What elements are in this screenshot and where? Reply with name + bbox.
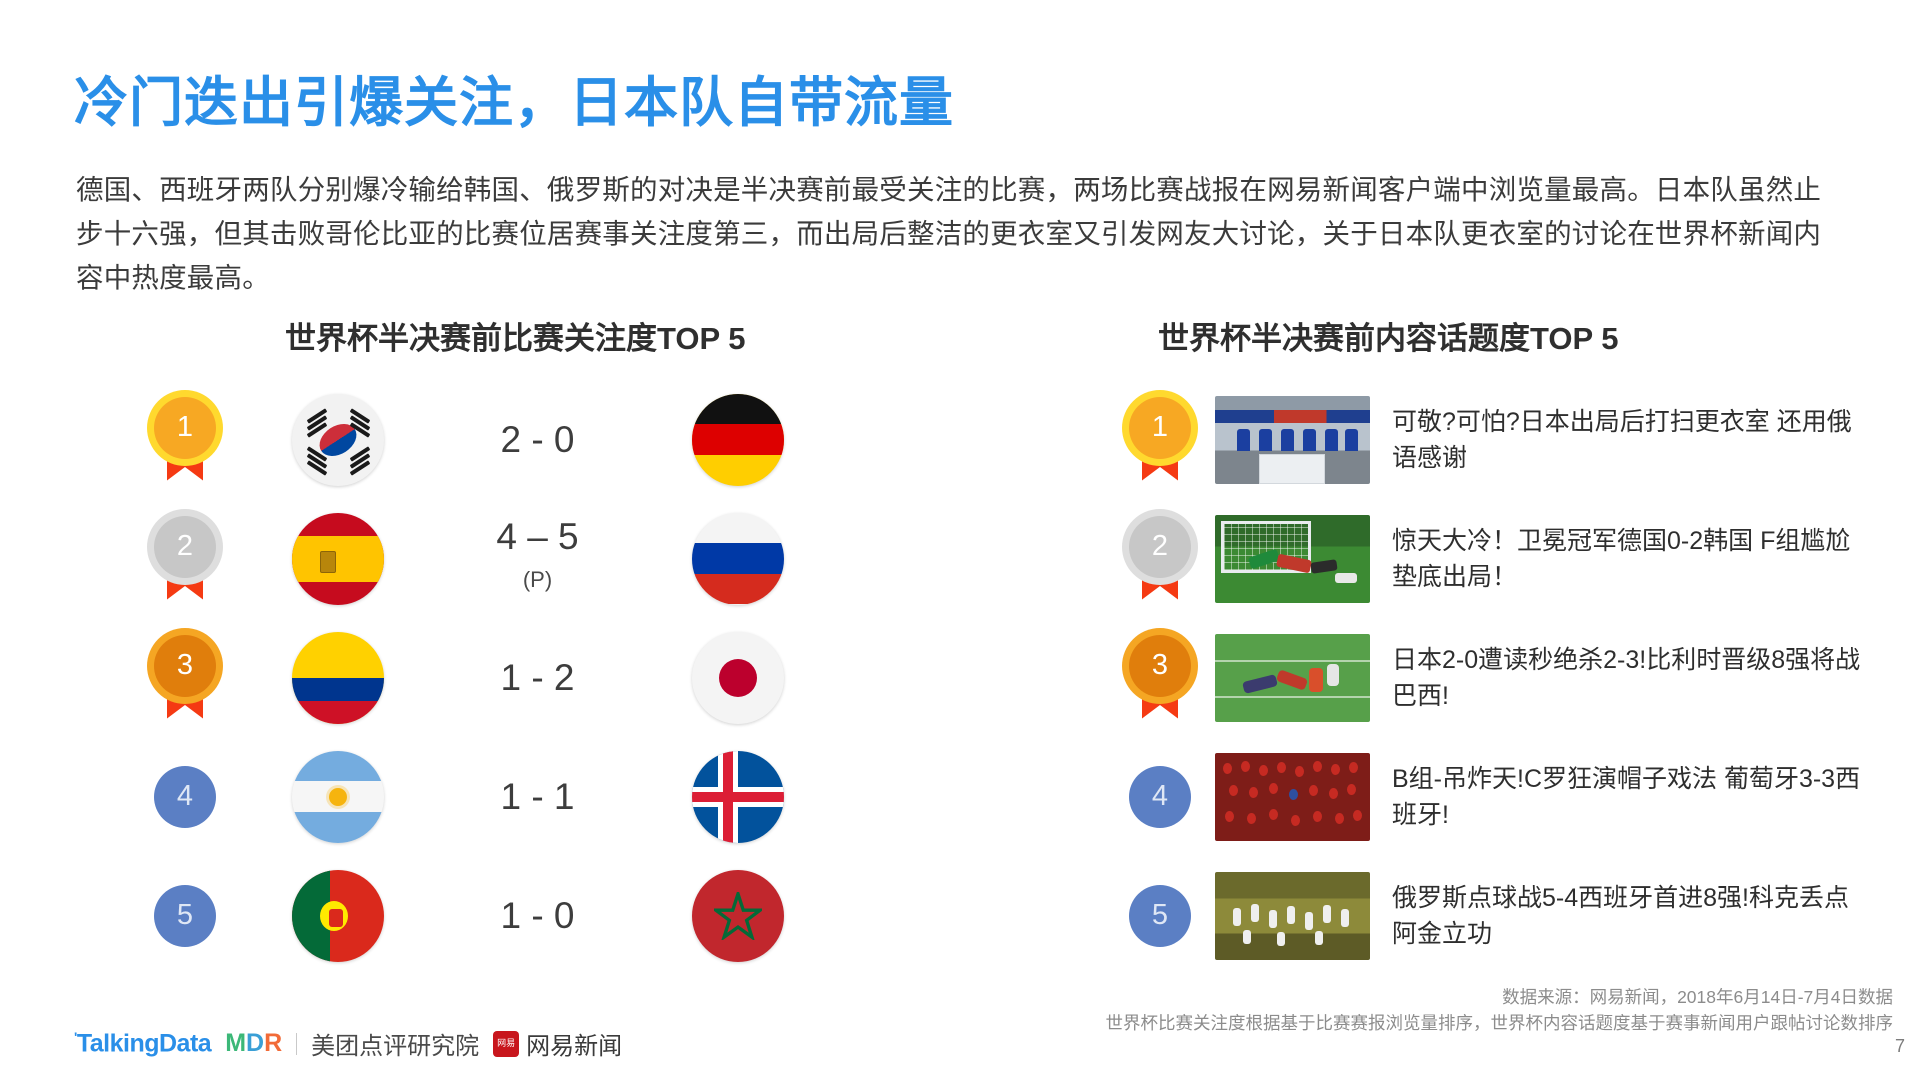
score-text: 1 - 2 bbox=[500, 657, 574, 698]
home-flag-cell bbox=[250, 394, 425, 486]
rank-number: 1 bbox=[154, 397, 216, 459]
source-line-2: 世界杯比赛关注度根据基于比赛赛报浏览量排序，世界杯内容话题度基于赛事新闻用户跟帖… bbox=[1106, 1010, 1894, 1036]
medal-gold-icon: 1 bbox=[154, 397, 216, 483]
news-thumbnail-red-crowd[interactable] bbox=[1215, 753, 1370, 841]
flag-morocco-icon bbox=[692, 870, 784, 962]
medal-bronze-icon: 3 bbox=[1129, 635, 1191, 721]
rank-number: 2 bbox=[1129, 516, 1191, 578]
rank-badge-4: 4 bbox=[1129, 766, 1191, 828]
list-item: 5 俄罗斯点球战5-4西班牙首进8强!科克丢点阿金立功 bbox=[1105, 856, 1905, 975]
slide-root: 冷门迭出引爆关注，日本队自带流量 德国、西班牙两队分别爆冷输给韩国、俄罗斯的对决… bbox=[0, 0, 1921, 1080]
flag-spain-icon bbox=[292, 513, 384, 605]
right-section-heading: 世界杯半决赛前内容话题度TOP 5 bbox=[1158, 313, 1618, 358]
news-headline[interactable]: 俄罗斯点球战5-4西班牙首进8强!科克丢点阿金立功 bbox=[1392, 880, 1872, 952]
match-score: 1 - 1 bbox=[425, 776, 650, 818]
medal-gold-icon: 1 bbox=[1129, 397, 1191, 483]
rank-number: 5 bbox=[177, 899, 193, 932]
rank-cell: 2 bbox=[120, 516, 250, 602]
match-ranking-list: 1 bbox=[120, 380, 900, 975]
table-row: 1 bbox=[120, 380, 900, 499]
flag-iceland-icon bbox=[692, 751, 784, 843]
netease-label: 网易新闻 bbox=[526, 1026, 622, 1061]
medal-silver-icon: 2 bbox=[1129, 516, 1191, 602]
page-title: 冷门迭出引爆关注，日本队自带流量 bbox=[74, 58, 954, 137]
news-ranking-list: 1 可敬?可怕?日本出局后打扫更衣室 还用俄语感谢 2 bbox=[1105, 380, 1905, 975]
rank-number: 1 bbox=[1129, 397, 1191, 459]
penalty-note: (P) bbox=[425, 559, 650, 601]
netease-mark-icon: 网易 bbox=[493, 1031, 519, 1057]
footer-logos: 'TalkingData MDR 美团点评研究院 网易 网易新闻 bbox=[74, 1026, 622, 1061]
score-text: 2 - 0 bbox=[500, 419, 574, 460]
rank-cell: 3 bbox=[1105, 635, 1215, 721]
page-number: 7 bbox=[1895, 1036, 1905, 1057]
away-flag-cell bbox=[650, 394, 825, 486]
rank-number: 5 bbox=[1152, 899, 1168, 932]
table-row: 2 4 – 5 (P) bbox=[120, 499, 900, 618]
rank-cell: 1 bbox=[120, 397, 250, 483]
spain-crest bbox=[320, 551, 336, 573]
away-flag-cell bbox=[650, 513, 825, 605]
table-row: 5 1 - 0 bbox=[120, 856, 900, 975]
rank-cell: 4 bbox=[1105, 766, 1215, 828]
source-note: 数据来源：网易新闻，2018年6月14日-7月4日数据 世界杯比赛关注度根据基于… bbox=[1106, 984, 1894, 1036]
home-flag-cell bbox=[250, 870, 425, 962]
list-item: 4 B组-吊炸天!C罗狂演帽子戏法 葡萄牙3-3西班牙! bbox=[1105, 737, 1905, 856]
rank-cell: 1 bbox=[1105, 397, 1215, 483]
rank-badge-4: 4 bbox=[154, 766, 216, 828]
page-subtitle: 德国、西班牙两队分别爆冷输给韩国、俄罗斯的对决是半决赛前最受关注的比赛，两场比赛… bbox=[76, 168, 1846, 300]
home-flag-cell bbox=[250, 513, 425, 605]
mdr-logo: MDR bbox=[225, 1029, 282, 1058]
portugal-crest bbox=[320, 901, 348, 931]
talkingdata-logo: 'TalkingData bbox=[74, 1029, 211, 1058]
home-flag-cell bbox=[250, 751, 425, 843]
list-item: 3 日本2-0遭读秒绝杀2-3!比利时晋级8强将战巴西! bbox=[1105, 618, 1905, 737]
rank-cell: 5 bbox=[1105, 885, 1215, 947]
score-text: 1 - 0 bbox=[500, 895, 574, 936]
away-flag-cell bbox=[650, 632, 825, 724]
medal-bronze-icon: 3 bbox=[154, 635, 216, 721]
flag-portugal-icon bbox=[292, 870, 384, 962]
medal-silver-icon: 2 bbox=[154, 516, 216, 602]
table-row: 4 1 - 1 bbox=[120, 737, 900, 856]
flag-south-korea-icon bbox=[292, 394, 384, 486]
rank-cell: 5 bbox=[120, 885, 250, 947]
match-score: 1 - 2 bbox=[425, 657, 650, 699]
pentagram-icon bbox=[714, 892, 762, 940]
away-flag-cell bbox=[650, 870, 825, 962]
netease-news-logo: 网易 网易新闻 bbox=[493, 1026, 622, 1061]
news-headline[interactable]: 日本2-0遭读秒绝杀2-3!比利时晋级8强将战巴西! bbox=[1392, 642, 1872, 714]
news-thumbnail-players-pitch[interactable] bbox=[1215, 634, 1370, 722]
news-headline[interactable]: B组-吊炸天!C罗狂演帽子戏法 葡萄牙3-3西班牙! bbox=[1392, 761, 1872, 833]
match-score: 4 – 5 (P) bbox=[425, 516, 650, 601]
news-thumbnail-celebration[interactable] bbox=[1215, 872, 1370, 960]
flag-japan-icon bbox=[692, 632, 784, 724]
rank-cell: 4 bbox=[120, 766, 250, 828]
rank-number: 3 bbox=[154, 635, 216, 697]
home-flag-cell bbox=[250, 632, 425, 724]
score-text: 1 - 1 bbox=[500, 776, 574, 817]
rank-number: 4 bbox=[177, 780, 193, 813]
rank-cell: 2 bbox=[1105, 516, 1215, 602]
rank-badge-5: 5 bbox=[1129, 885, 1191, 947]
rank-number: 2 bbox=[154, 516, 216, 578]
away-flag-cell bbox=[650, 751, 825, 843]
rank-cell: 3 bbox=[120, 635, 250, 721]
list-item: 1 可敬?可怕?日本出局后打扫更衣室 还用俄语感谢 bbox=[1105, 380, 1905, 499]
left-section-heading: 世界杯半决赛前比赛关注度TOP 5 bbox=[285, 313, 745, 358]
logo-divider bbox=[296, 1033, 297, 1055]
rank-number: 4 bbox=[1152, 780, 1168, 813]
match-score: 2 - 0 bbox=[425, 419, 650, 461]
flag-germany-icon bbox=[692, 394, 784, 486]
table-row: 3 1 - 2 bbox=[120, 618, 900, 737]
list-item: 2 惊天大冷！卫冕冠军德国0-2韩国 F组尴尬垫底出局！ bbox=[1105, 499, 1905, 618]
sun-of-may-icon bbox=[329, 788, 347, 806]
match-score: 1 - 0 bbox=[425, 895, 650, 937]
source-line-1: 数据来源：网易新闻，2018年6月14日-7月4日数据 bbox=[1106, 984, 1894, 1010]
rank-number: 3 bbox=[1129, 635, 1191, 697]
flag-argentina-icon bbox=[292, 751, 384, 843]
meituan-research-logo: 美团点评研究院 bbox=[311, 1026, 479, 1061]
news-headline[interactable]: 惊天大冷！卫冕冠军德国0-2韩国 F组尴尬垫底出局！ bbox=[1392, 523, 1872, 595]
rank-badge-5: 5 bbox=[154, 885, 216, 947]
score-text: 4 – 5 bbox=[496, 516, 578, 557]
news-thumbnail-goal-save[interactable] bbox=[1215, 515, 1370, 603]
flag-colombia-icon bbox=[292, 632, 384, 724]
news-thumbnail-locker-room[interactable] bbox=[1215, 396, 1370, 484]
flag-russia-icon bbox=[692, 513, 784, 605]
news-headline[interactable]: 可敬?可怕?日本出局后打扫更衣室 还用俄语感谢 bbox=[1392, 404, 1872, 476]
